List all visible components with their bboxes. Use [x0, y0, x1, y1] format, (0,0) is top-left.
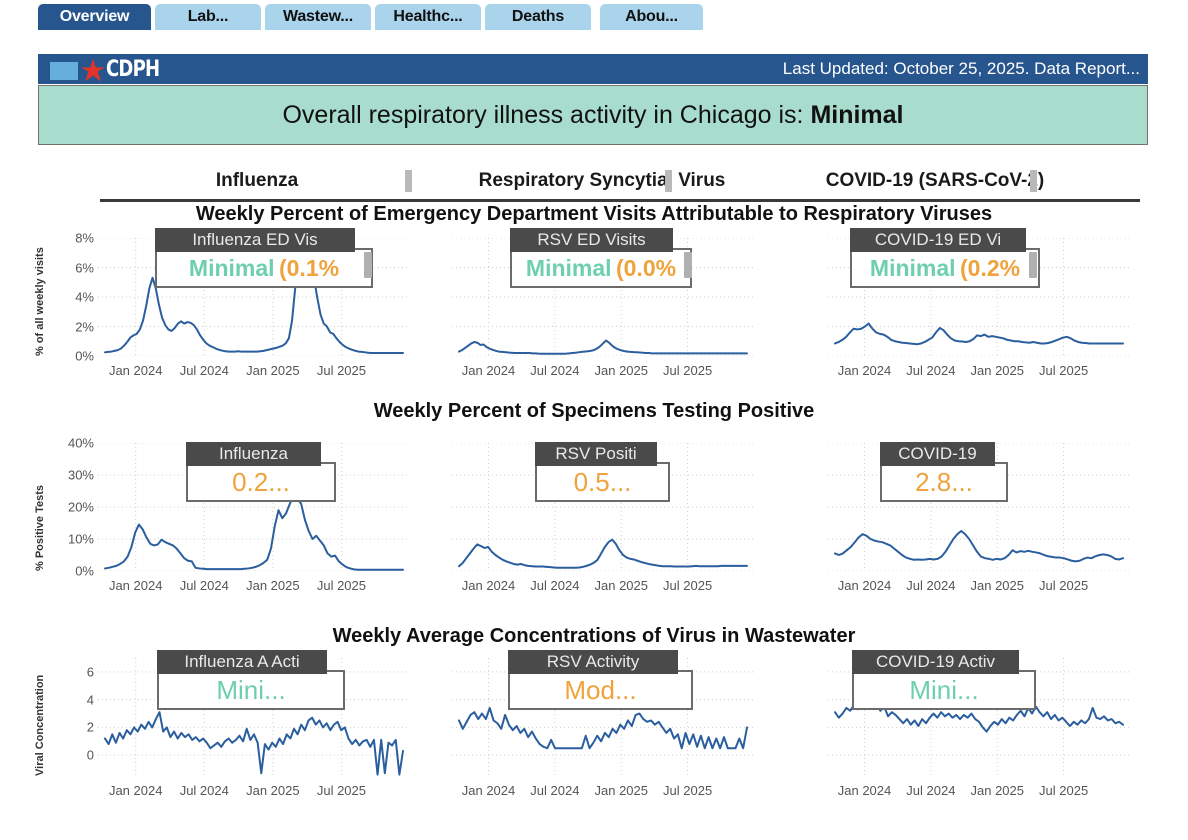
tab-deaths[interactable]: Deaths: [485, 4, 591, 30]
x-tick-label: Jul 2024: [906, 783, 955, 798]
tooltip-title-text: COVID-19 ED Vi: [875, 230, 1001, 250]
y-tick-label: 0%: [46, 349, 94, 364]
tooltip-title-text: COVID-19: [898, 444, 976, 464]
x-tick-label: Jan 2024: [109, 578, 163, 593]
tooltip-title-text: COVID-19 Activ: [876, 652, 995, 672]
tooltip-title: Influenza ED Vis: [155, 228, 355, 252]
tooltip-callout-4[interactable]: RSV Positi0.5...: [535, 462, 670, 502]
y-tick-label: 0: [46, 748, 94, 763]
logo-text: CDPH: [106, 57, 159, 82]
overall-activity-banner: Overall respiratory illness activity in …: [38, 85, 1148, 145]
x-tick-label: Jul 2024: [906, 363, 955, 378]
y-axis-label: % of all weekly visits: [34, 228, 46, 356]
tab-label: Wastew...: [283, 8, 353, 26]
y-axis-label: Viral Concentration: [34, 648, 46, 776]
tooltip-scroll-handle[interactable]: [364, 252, 372, 278]
tooltip-body: Mod...: [510, 672, 691, 708]
x-tick-label: Jul 2024: [530, 783, 579, 798]
virus-column-headers: InfluenzaRespiratory Syncytial VirusCOVI…: [100, 168, 1140, 196]
tooltip-title-text: RSV ED Visits: [537, 230, 645, 250]
y-axis-label: % Positive Tests: [34, 433, 46, 571]
section-title-0: Weekly Percent of Emergency Department V…: [0, 203, 1188, 226]
tab-label: Abou...: [625, 8, 678, 26]
x-tick-label: Jul 2025: [663, 578, 712, 593]
header-rule-divider: [100, 199, 1140, 202]
tooltip-value: (0.1%: [279, 255, 339, 282]
x-tick-label: Jan 2025: [595, 578, 649, 593]
tooltip-title-text: Influenza ED Vis: [192, 230, 317, 250]
section-title-text: Weekly Percent of Emergency Department V…: [196, 203, 992, 225]
x-tick-label: Jul 2024: [180, 363, 229, 378]
section-title-2: Weekly Average Concentrations of Virus i…: [0, 625, 1188, 648]
column-header-label: COVID-19 (SARS-CoV-2): [826, 170, 1045, 192]
tooltip-title: RSV ED Visits: [510, 228, 673, 252]
column-header-covid19: COVID-19 (SARS-CoV-2): [755, 168, 1115, 194]
tooltip-title: Influenza A Acti: [157, 650, 327, 674]
y-tick-label: 2: [46, 720, 94, 735]
tooltip-level: Mini...: [909, 675, 978, 706]
section-title-text: Weekly Average Concentrations of Virus i…: [333, 625, 856, 647]
x-tick-label: Jan 2025: [246, 783, 300, 798]
tab-label: Overview: [60, 8, 130, 26]
tab-wastew[interactable]: Wastew...: [265, 4, 371, 30]
y-tick-label: 10%: [46, 532, 94, 547]
column-header-influenza: Influenza: [77, 168, 437, 194]
column-header-label: Influenza: [216, 170, 298, 192]
tooltip-level: Minimal: [870, 255, 956, 282]
x-tick-label: Jan 2024: [838, 363, 892, 378]
x-tick-label: Jan 2024: [109, 363, 163, 378]
column-header-label: Respiratory Syncytial Virus: [479, 170, 726, 192]
x-tick-label: Jul 2025: [663, 783, 712, 798]
y-tick-label: 4: [46, 692, 94, 707]
tooltip-title: COVID-19: [880, 442, 995, 466]
y-tick-label: 2%: [46, 319, 94, 334]
tooltip-callout-8[interactable]: COVID-19 ActivMini...: [852, 670, 1036, 710]
tooltip-scroll-handle[interactable]: [1029, 252, 1037, 278]
x-tick-label: Jan 2024: [462, 363, 516, 378]
x-tick-label: Jul 2025: [1039, 363, 1088, 378]
chicago-star-icon: [80, 58, 106, 84]
y-tick-label: 6%: [46, 260, 94, 275]
y-tick-label: 40%: [46, 436, 94, 451]
column-header-rsv: Respiratory Syncytial Virus: [422, 168, 782, 194]
tooltip-body: 0.5...: [537, 464, 668, 500]
tooltip-body: Mini...: [854, 672, 1034, 708]
tooltip-title: Influenza: [186, 442, 321, 466]
tooltip-level: Minimal: [189, 255, 275, 282]
tab-label: Lab...: [188, 8, 229, 26]
tooltip-level: Mini...: [216, 675, 285, 706]
x-tick-label: Jan 2024: [462, 783, 516, 798]
tooltip-value: 0.5...: [574, 467, 632, 498]
tooltip-title-text: RSV Positi: [555, 444, 636, 464]
x-tick-label: Jan 2024: [838, 578, 892, 593]
tooltip-scroll-handle[interactable]: [684, 252, 692, 278]
tab-label: Deaths: [512, 8, 564, 26]
y-tick-label: 20%: [46, 500, 94, 515]
tooltip-title: COVID-19 Activ: [852, 650, 1019, 674]
tooltip-callout-1[interactable]: RSV ED VisitsMinimal (0.0%: [510, 248, 692, 288]
tooltip-title: RSV Activity: [508, 650, 678, 674]
x-tick-label: Jan 2025: [595, 783, 649, 798]
x-tick-label: Jan 2025: [971, 783, 1025, 798]
overall-activity-text: Overall respiratory illness activity in …: [282, 101, 903, 130]
tooltip-value: (0.2%: [960, 255, 1020, 282]
tooltip-title-text: Influenza A Acti: [184, 652, 299, 672]
x-tick-label: Jan 2025: [971, 363, 1025, 378]
tooltip-callout-5[interactable]: COVID-192.8...: [880, 462, 1008, 502]
tooltip-body: 0.2...: [188, 464, 334, 500]
tooltip-body: Minimal (0.1%: [157, 250, 371, 286]
tooltip-body: Minimal (0.2%: [852, 250, 1038, 286]
column-divider-0: [405, 170, 412, 192]
tooltip-level: Mod...: [564, 675, 636, 706]
agency-header-bar: CDPH Last Updated: October 25, 2025. Dat…: [38, 54, 1148, 84]
logo-square-icon: [50, 62, 78, 80]
tooltip-value: (0.0%: [616, 255, 676, 282]
x-tick-label: Jul 2025: [663, 363, 712, 378]
x-tick-label: Jul 2024: [180, 578, 229, 593]
x-tick-label: Jul 2025: [317, 783, 366, 798]
x-tick-label: Jan 2025: [246, 363, 300, 378]
x-tick-label: Jul 2025: [317, 363, 366, 378]
y-tick-label: 4%: [46, 290, 94, 305]
tooltip-callout-6[interactable]: Influenza A ActiMini...: [157, 670, 345, 710]
x-tick-label: Jan 2024: [109, 783, 163, 798]
y-tick-label: 6: [46, 664, 94, 679]
y-tick-label: 8%: [46, 231, 94, 246]
tab-abou[interactable]: Abou...: [600, 4, 703, 30]
section-title-1: Weekly Percent of Specimens Testing Posi…: [0, 400, 1188, 423]
x-tick-label: Jul 2024: [530, 578, 579, 593]
tooltip-title-text: RSV Activity: [547, 652, 640, 672]
x-tick-label: Jul 2024: [906, 578, 955, 593]
x-tick-label: Jul 2024: [530, 363, 579, 378]
tooltip-body: Minimal (0.0%: [512, 250, 690, 286]
tab-overview[interactable]: Overview: [38, 4, 151, 30]
tooltip-body: 2.8...: [882, 464, 1006, 500]
x-tick-label: Jan 2024: [462, 578, 516, 593]
tooltip-level: Minimal: [526, 255, 612, 282]
x-tick-label: Jul 2025: [1039, 578, 1088, 593]
tooltip-callout-7[interactable]: RSV ActivityMod...: [508, 670, 693, 710]
section-title-text: Weekly Percent of Specimens Testing Posi…: [374, 400, 815, 422]
tab-label: Healthc...: [393, 8, 462, 26]
x-tick-label: Jan 2025: [246, 578, 300, 593]
tab-bar: OverviewLab...Wastew...Healthc...DeathsA…: [0, 0, 1188, 30]
column-divider-2: [1030, 170, 1037, 192]
tooltip-title: COVID-19 ED Vi: [850, 228, 1026, 252]
x-tick-label: Jan 2025: [971, 578, 1025, 593]
tooltip-title-text: Influenza: [219, 444, 288, 464]
tooltip-title: RSV Positi: [535, 442, 657, 466]
column-divider-1: [665, 170, 672, 192]
x-tick-label: Jan 2024: [838, 783, 892, 798]
x-tick-label: Jul 2025: [317, 578, 366, 593]
banner-prefix: Overall respiratory illness activity in …: [282, 101, 810, 129]
tab-lab[interactable]: Lab...: [155, 4, 261, 30]
x-tick-label: Jul 2024: [180, 783, 229, 798]
x-tick-label: Jan 2025: [595, 363, 649, 378]
y-tick-label: 30%: [46, 468, 94, 483]
tooltip-value: 2.8...: [915, 467, 973, 498]
tooltip-body: Mini...: [159, 672, 343, 708]
tooltip-callout-3[interactable]: Influenza0.2...: [186, 462, 336, 502]
tooltip-value: 0.2...: [232, 467, 290, 498]
last-updated-text: Last Updated: October 25, 2025. Data Rep…: [783, 54, 1140, 84]
tooltip-callout-2[interactable]: COVID-19 ED ViMinimal (0.2%: [850, 248, 1040, 288]
y-tick-label: 0%: [46, 564, 94, 579]
tooltip-callout-0[interactable]: Influenza ED VisMinimal (0.1%: [155, 248, 373, 288]
cdph-logo: CDPH: [50, 58, 190, 82]
x-tick-label: Jul 2025: [1039, 783, 1088, 798]
banner-level: Minimal: [810, 101, 903, 129]
tab-healthc[interactable]: Healthc...: [375, 4, 481, 30]
